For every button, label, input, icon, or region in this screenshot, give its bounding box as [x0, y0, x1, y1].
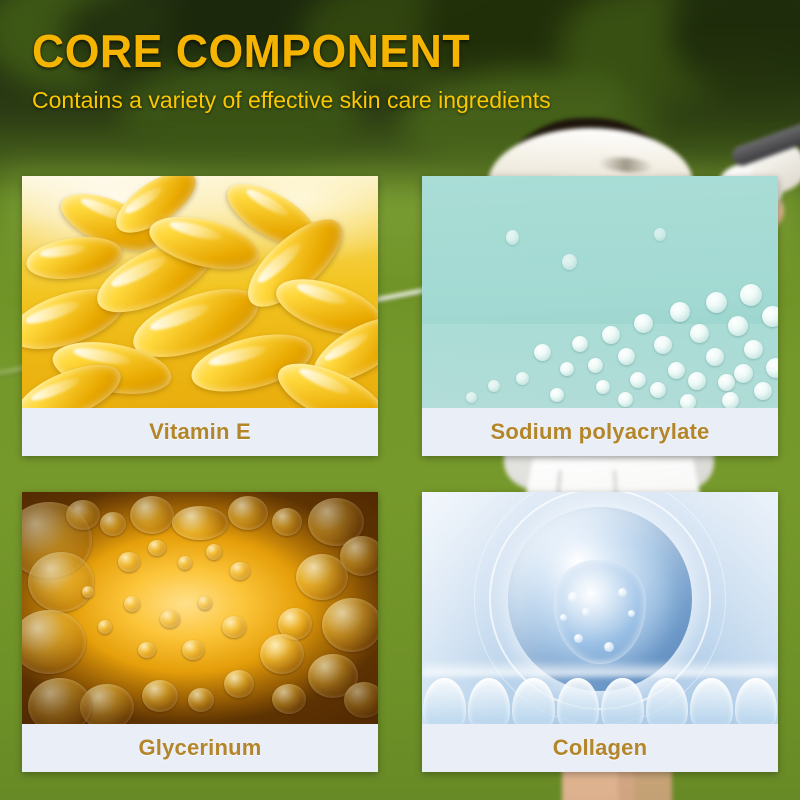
ingredient-card-glycerinum[interactable]: Glycerinum	[22, 492, 378, 772]
ingredient-card-sodium-polyacrylate[interactable]: Sodium polyacrylate	[422, 176, 778, 456]
poster-root: CORE COMPONENT Contains a variety of eff…	[0, 0, 800, 800]
ingredient-label-vitamin-e: Vitamin E	[149, 419, 251, 445]
page-subtitle: Contains a variety of effective skin car…	[32, 87, 772, 114]
ingredient-label-bar-vitamin-e: Vitamin E	[22, 408, 378, 456]
page-title: CORE COMPONENT	[32, 28, 750, 74]
ingredient-card-grid: Vitamin E	[22, 176, 778, 772]
ingredient-card-vitamin-e[interactable]: Vitamin E	[22, 176, 378, 456]
heading-block: CORE COMPONENT Contains a variety of eff…	[32, 28, 772, 114]
ingredient-card-collagen[interactable]: Collagen	[422, 492, 778, 772]
ingredient-label-bar-glycerinum: Glycerinum	[22, 724, 378, 772]
ingredient-label-bar-collagen: Collagen	[422, 724, 778, 772]
ingredient-label-glycerinum: Glycerinum	[138, 735, 261, 761]
ingredient-photo-glycerinum	[22, 492, 378, 724]
ingredient-label-bar-sodium-polyacrylate: Sodium polyacrylate	[422, 408, 778, 456]
ingredient-label-collagen: Collagen	[553, 735, 648, 761]
ingredient-photo-vitamin-e	[22, 176, 378, 408]
ingredient-photo-collagen	[422, 492, 778, 724]
ingredient-label-sodium-polyacrylate: Sodium polyacrylate	[491, 419, 710, 445]
ingredient-photo-sodium-polyacrylate	[422, 176, 778, 408]
